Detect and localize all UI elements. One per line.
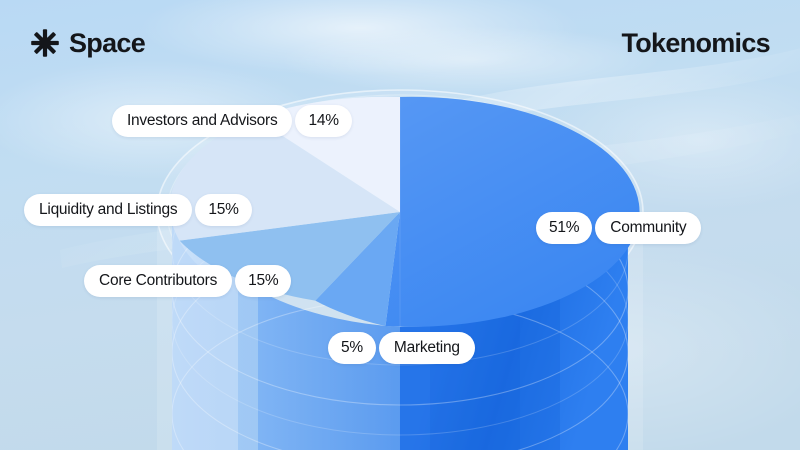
callout-value-community: 51% [536,212,592,244]
page-title: Tokenomics [621,30,770,57]
callout-label-liquidity: Liquidity and Listings [24,194,192,226]
tokenomics-slide: Space Tokenomics Investors and Advisors … [0,0,800,450]
callout-value-liquidity: 15% [195,194,251,226]
callout-core-contributors[interactable]: Core Contributors 15% [84,265,291,297]
callout-liquidity-and-listings[interactable]: Liquidity and Listings 15% [24,194,252,226]
brand: Space [30,28,145,58]
slide-header: Space Tokenomics [0,0,800,86]
callout-label-investors: Investors and Advisors [112,105,292,137]
callout-investors-and-advisors[interactable]: Investors and Advisors 14% [112,105,352,137]
callout-value-core: 15% [235,265,291,297]
callout-value-marketing: 5% [328,332,376,364]
callout-label-community: Community [595,212,701,244]
callout-marketing[interactable]: 5% Marketing [328,332,475,364]
callout-community[interactable]: 51% Community [536,212,701,244]
callout-label-marketing: Marketing [379,332,475,364]
callout-value-investors: 14% [295,105,351,137]
asterisk-star-icon [30,28,60,58]
callout-label-core: Core Contributors [84,265,232,297]
brand-name: Space [69,30,145,57]
